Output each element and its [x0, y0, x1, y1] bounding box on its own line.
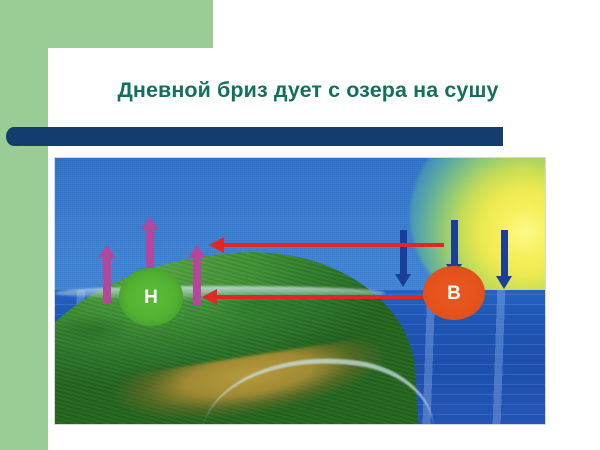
page-title: Дневной бриз дует с озера на сушу	[48, 78, 568, 103]
marker-low-pressure-label: В	[447, 284, 461, 303]
rising-air-arrow-icon	[193, 256, 201, 306]
rising-air-arrow-icon	[103, 256, 111, 304]
slide-root: Дневной бриз дует с озера на сушу Н	[0, 0, 600, 450]
marker-high-pressure: Н	[119, 268, 183, 326]
decor-green-sidebar	[0, 0, 48, 450]
marker-low-pressure: В	[423, 266, 485, 320]
illustration-image: Н В	[55, 158, 545, 424]
sinking-air-arrow-icon	[451, 220, 458, 266]
breeze-arrow-icon	[222, 243, 444, 247]
decor-navy-bar	[14, 127, 503, 146]
sinking-air-arrow-icon	[400, 230, 407, 276]
breeze-arrow-icon	[215, 295, 445, 299]
marker-high-pressure-label: Н	[144, 288, 158, 307]
sinking-air-arrow-icon	[501, 230, 508, 278]
